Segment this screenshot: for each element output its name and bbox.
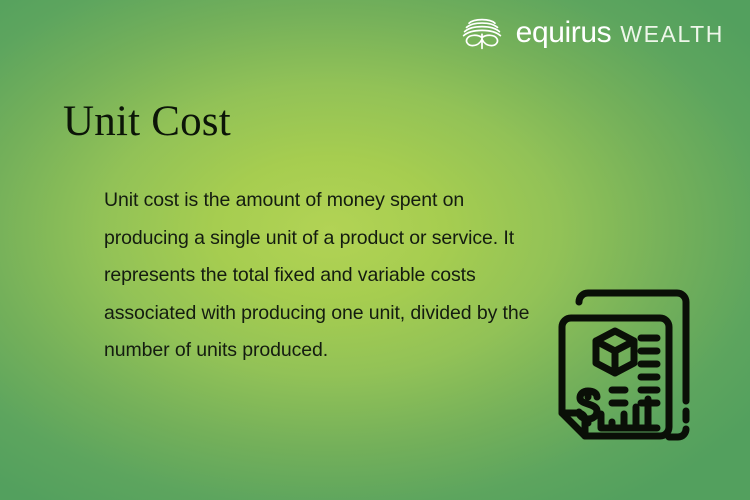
equirus-tree-logo-icon [459,15,505,51]
brand-name-secondary: WEALTH [620,23,724,46]
brand-lockup: equirus WEALTH [459,12,724,54]
page-title: Unit Cost [63,98,231,146]
body-paragraph: Unit cost is the amount of money spent o… [104,182,534,370]
financial-report-document-icon [557,281,697,449]
brand-name-primary: equirus [516,18,612,48]
slide-canvas: equirus WEALTH Unit Cost Unit cost is th… [0,0,750,500]
brand-wordmark: equirus WEALTH [516,18,724,48]
